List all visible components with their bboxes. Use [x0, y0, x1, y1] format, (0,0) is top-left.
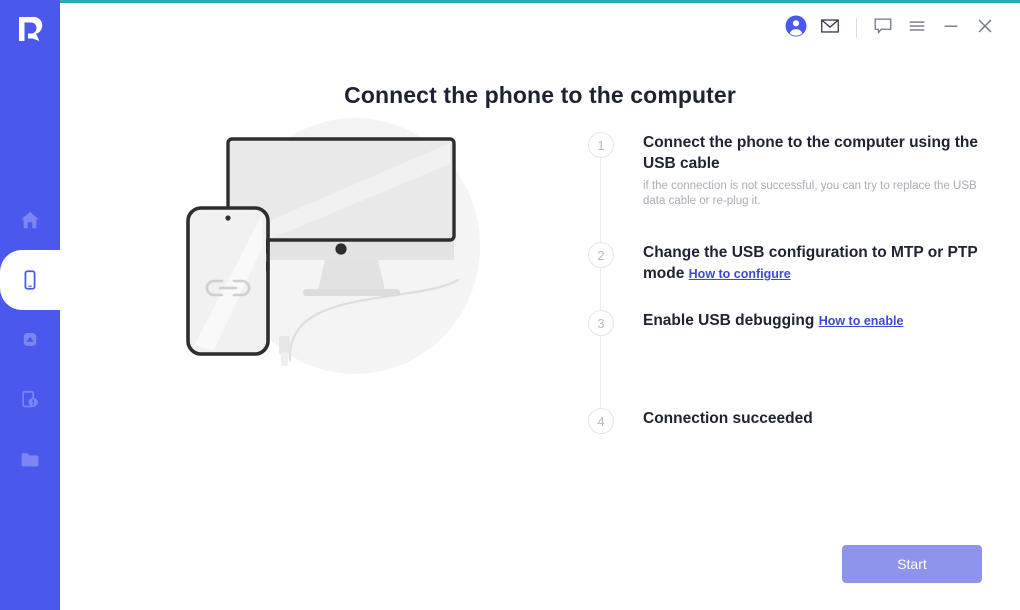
account-icon: [784, 14, 808, 43]
sidebar-item-repair[interactable]: [0, 370, 60, 430]
minimize-icon: [940, 15, 962, 42]
backup-icon: [19, 329, 41, 351]
step-title: Connection succeeded: [643, 408, 983, 429]
step-connector: [600, 268, 601, 310]
folder-icon: [19, 449, 41, 471]
phone-icon: [19, 269, 41, 291]
sidebar-item-backup[interactable]: [0, 310, 60, 370]
titlebar: [60, 3, 1020, 53]
phone-to-computer-illustration: [170, 98, 515, 398]
menu-icon: [906, 15, 928, 42]
step-description: if the connection is not successful, you…: [643, 179, 978, 209]
menu-button[interactable]: [900, 11, 934, 45]
app-window: Connect the phone to the computer: [0, 0, 1020, 610]
how-to-enable-link[interactable]: How to enable: [819, 314, 904, 328]
repair-icon: [19, 389, 41, 411]
minimize-button[interactable]: [934, 11, 968, 45]
step-number: 1: [588, 132, 614, 158]
account-button[interactable]: [779, 11, 813, 45]
sidebar-nav: [0, 190, 60, 490]
step-item: 3 Enable USB debugging How to enable: [577, 310, 997, 408]
sidebar-item-files[interactable]: [0, 430, 60, 490]
home-icon: [19, 209, 41, 231]
feedback-icon: [872, 15, 894, 42]
step-title: Connect the phone to the computer using …: [643, 132, 983, 174]
how-to-configure-link[interactable]: How to configure: [689, 267, 791, 281]
step-item: 1 Connect the phone to the computer usin…: [577, 132, 997, 242]
close-icon: [974, 15, 996, 42]
step-number: 3: [588, 310, 614, 336]
sidebar: [0, 0, 60, 610]
step-number: 4: [588, 408, 614, 434]
main-content: Connect the phone to the computer: [60, 0, 1020, 610]
mail-button[interactable]: [813, 11, 847, 45]
feedback-button[interactable]: [866, 11, 900, 45]
step-number: 2: [588, 242, 614, 268]
sidebar-item-phone[interactable]: [0, 250, 60, 310]
app-logo[interactable]: [11, 10, 49, 48]
step-title: Change the USB configuration to MTP or P…: [643, 242, 983, 285]
mail-icon: [819, 15, 841, 42]
step-connector: [600, 336, 601, 408]
step-item: 2 Change the USB configuration to MTP or…: [577, 242, 997, 310]
step-title-text: Enable USB debugging: [643, 312, 814, 329]
titlebar-divider: [856, 18, 857, 38]
steps-list: 1 Connect the phone to the computer usin…: [577, 132, 997, 438]
step-connector: [600, 158, 601, 242]
start-button[interactable]: Start: [842, 545, 982, 583]
close-button[interactable]: [968, 11, 1002, 45]
step-item: 4 Connection succeeded: [577, 408, 997, 438]
step-title: Enable USB debugging How to enable: [643, 310, 983, 332]
